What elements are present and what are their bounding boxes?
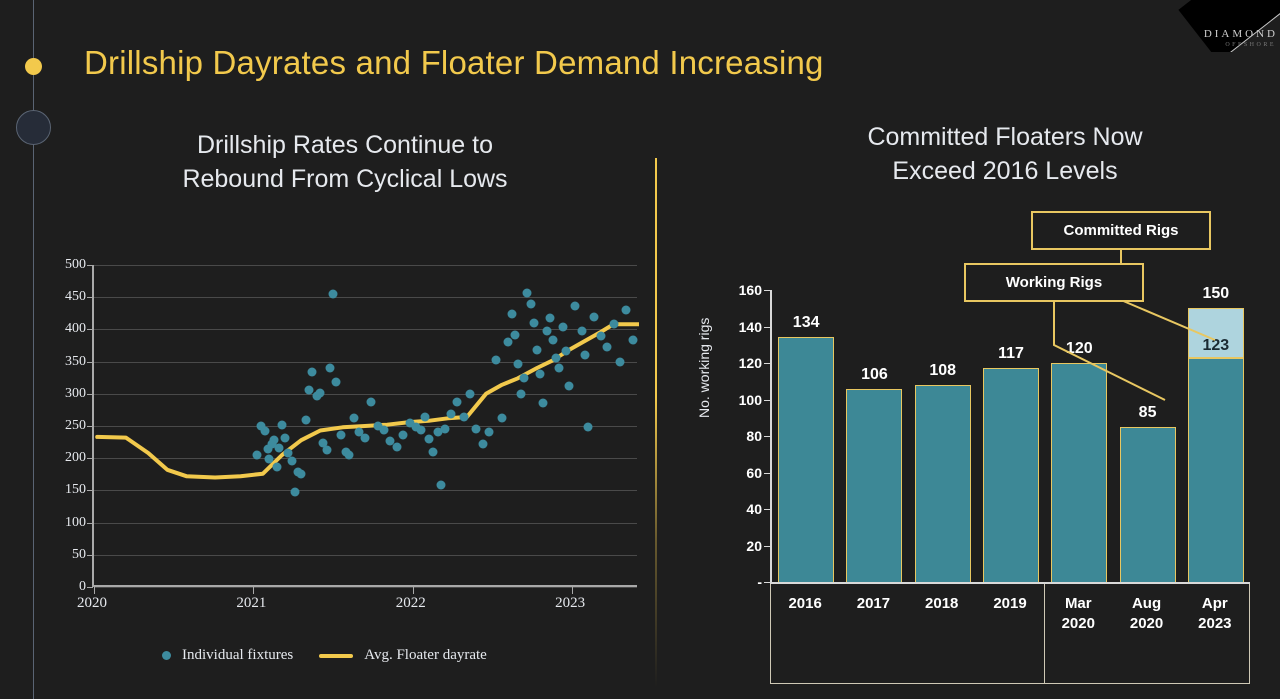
bar-value-label: 117 bbox=[998, 345, 1024, 363]
scatter-point bbox=[446, 410, 455, 419]
scatter-point bbox=[517, 389, 526, 398]
scatter-x-tick-label: 2021 bbox=[236, 595, 266, 612]
scatter-point bbox=[472, 424, 481, 433]
scatter-gridline bbox=[94, 587, 637, 588]
bar-segment-working bbox=[846, 389, 902, 582]
scatter-point bbox=[510, 330, 519, 339]
scatter-point bbox=[466, 389, 475, 398]
scatter-point bbox=[316, 388, 325, 397]
scatter-point bbox=[278, 420, 287, 429]
scatter-point bbox=[577, 326, 586, 335]
legend-dot-icon bbox=[162, 651, 171, 660]
scatter-y-tick bbox=[87, 426, 93, 427]
scatter-point bbox=[252, 450, 261, 459]
bar-y-tick bbox=[764, 400, 771, 401]
right-chart-title-line1: Committed Floaters Now bbox=[700, 120, 1280, 154]
bar-group-divider bbox=[1044, 584, 1045, 683]
scatter-point bbox=[297, 470, 306, 479]
bar-category-label: Apr 2023 bbox=[1198, 594, 1231, 633]
scatter-point bbox=[548, 335, 557, 344]
legend-label-individual-fixtures: Individual fixtures bbox=[182, 647, 293, 664]
scatter-point bbox=[491, 356, 500, 365]
scatter-point bbox=[349, 414, 358, 423]
bar-column[interactable] bbox=[983, 368, 1039, 582]
scatter-point bbox=[322, 446, 331, 455]
bar-value-label: 85 bbox=[1139, 404, 1157, 422]
scatter-y-tick-label: 100 bbox=[65, 515, 86, 531]
bar-column[interactable] bbox=[915, 385, 971, 582]
scatter-plot-area bbox=[92, 265, 637, 587]
scatter-x-tick bbox=[413, 587, 414, 594]
left-chart-title-line2: Rebound From Cyclical Lows bbox=[60, 162, 630, 196]
bar-value-label: 106 bbox=[861, 366, 888, 384]
scatter-y-tick bbox=[87, 555, 93, 556]
timeline-line bbox=[33, 0, 34, 699]
bar-y-axis-labels: -20406080100120140160 bbox=[716, 290, 762, 582]
scatter-y-tick bbox=[87, 490, 93, 491]
scatter-point bbox=[260, 426, 269, 435]
scatter-point bbox=[485, 428, 494, 437]
scatter-point bbox=[628, 335, 637, 344]
bar-column[interactable] bbox=[846, 389, 902, 582]
bar-segment-working bbox=[778, 337, 834, 582]
scatter-point bbox=[437, 481, 446, 490]
timeline-active-dot bbox=[25, 58, 42, 75]
brand-logo: DIAMOND OFFSHORE bbox=[1170, 0, 1280, 52]
right-chart-title-line2: Exceed 2016 Levels bbox=[700, 154, 1280, 188]
scatter-y-tick bbox=[87, 458, 93, 459]
scatter-point bbox=[523, 289, 532, 298]
scatter-point bbox=[580, 351, 589, 360]
bar-y-tick bbox=[764, 363, 771, 364]
scatter-point bbox=[325, 364, 334, 373]
scatter-point bbox=[590, 312, 599, 321]
left-chart-title-line1: Drillship Rates Continue to bbox=[60, 128, 630, 162]
scatter-x-tick-label: 2020 bbox=[77, 595, 107, 612]
timeline-circle-marker bbox=[16, 110, 51, 145]
scatter-y-tick bbox=[87, 329, 93, 330]
bar-category-label: Aug 2020 bbox=[1130, 594, 1163, 633]
bar-category-label: 2016 bbox=[788, 594, 821, 614]
scatter-point bbox=[552, 353, 561, 362]
scatter-point bbox=[273, 463, 282, 472]
scatter-point bbox=[332, 378, 341, 387]
scatter-y-tick-label: 200 bbox=[65, 450, 86, 466]
bar-y-tick-label: 120 bbox=[739, 355, 762, 371]
bar-y-tick-label: 20 bbox=[746, 538, 762, 554]
legend-item-avg-floater-dayrate: Avg. Floater dayrate bbox=[319, 647, 487, 664]
scatter-point bbox=[399, 431, 408, 440]
scatter-point bbox=[337, 431, 346, 440]
scatter-y-tick-label: 400 bbox=[65, 321, 86, 337]
bar-y-axis-title: No. working rigs bbox=[696, 318, 712, 418]
bar-inner-value-label: 123 bbox=[1202, 337, 1229, 355]
scatter-y-tick-label: 50 bbox=[72, 547, 86, 563]
scatter-y-tick bbox=[87, 297, 93, 298]
scatter-point bbox=[478, 440, 487, 449]
scatter-point bbox=[561, 347, 570, 356]
bar-segment-working bbox=[1051, 363, 1107, 582]
scatter-y-tick bbox=[87, 362, 93, 363]
bar-y-tick bbox=[764, 473, 771, 474]
scatter-point bbox=[545, 313, 554, 322]
scatter-point bbox=[609, 320, 618, 329]
scatter-point bbox=[367, 397, 376, 406]
scatter-point bbox=[281, 433, 290, 442]
scatter-point bbox=[274, 443, 283, 452]
scatter-y-tick bbox=[87, 394, 93, 395]
bar-x-axis-label-box: 2016201720182019Mar 2020Aug 2020Apr 2023 bbox=[770, 584, 1250, 684]
scatter-y-tick-label: 350 bbox=[65, 354, 86, 370]
bar-y-tick-label: 60 bbox=[746, 465, 762, 481]
callout-working-rigs: Working Rigs bbox=[964, 263, 1144, 302]
scatter-point bbox=[513, 360, 522, 369]
bar-category-label: 2018 bbox=[925, 594, 958, 614]
bar-chart: No. working rigs -20406080100120140160 1… bbox=[700, 290, 1270, 690]
bar-y-tick bbox=[764, 436, 771, 437]
scatter-y-tick-label: 500 bbox=[65, 257, 86, 273]
scatter-point bbox=[380, 425, 389, 434]
bar-y-tick-label: 80 bbox=[746, 428, 762, 444]
scatter-point bbox=[265, 455, 274, 464]
scatter-point bbox=[520, 374, 529, 383]
scatter-y-axis-labels: 050100150200250300350400450500 bbox=[42, 265, 86, 587]
legend-line-icon bbox=[319, 654, 353, 658]
bar-segment-working bbox=[983, 368, 1039, 582]
scatter-y-tick-label: 450 bbox=[65, 289, 86, 305]
legend-item-individual-fixtures: Individual fixtures bbox=[162, 647, 293, 664]
scatter-x-tick bbox=[94, 587, 95, 594]
scatter-point bbox=[507, 309, 516, 318]
scatter-point bbox=[290, 487, 299, 496]
scatter-point bbox=[596, 331, 605, 340]
scatter-point bbox=[287, 456, 296, 465]
bar-value-label: 120 bbox=[1066, 340, 1093, 358]
scatter-point bbox=[564, 382, 573, 391]
bar-segment-working bbox=[1120, 427, 1176, 582]
scatter-x-tick bbox=[572, 587, 573, 594]
scatter-y-tick-label: 300 bbox=[65, 386, 86, 402]
scatter-point bbox=[421, 412, 430, 421]
bar-category-label: Mar 2020 bbox=[1062, 594, 1095, 633]
scatter-point bbox=[622, 306, 631, 315]
scatter-y-tick bbox=[87, 523, 93, 524]
avg-floater-dayrate-line bbox=[94, 265, 639, 587]
scatter-point bbox=[308, 367, 317, 376]
bar-value-label: 134 bbox=[793, 314, 820, 332]
slide-root: DIAMOND OFFSHORE Drillship Dayrates and … bbox=[0, 0, 1280, 699]
scatter-point bbox=[603, 343, 612, 352]
scatter-point bbox=[536, 370, 545, 379]
bar-segment-working bbox=[1188, 358, 1244, 582]
bar-y-tick bbox=[764, 509, 771, 510]
scatter-point bbox=[526, 299, 535, 308]
scatter-point bbox=[329, 289, 338, 298]
bar-y-tick bbox=[764, 290, 771, 291]
scatter-point bbox=[533, 346, 542, 355]
panel-divider bbox=[655, 158, 657, 688]
bar-segment-working bbox=[915, 385, 971, 582]
scatter-point bbox=[440, 424, 449, 433]
scatter-point bbox=[555, 364, 564, 373]
scatter-point bbox=[453, 397, 462, 406]
scatter-point bbox=[424, 434, 433, 443]
logo-subtitle: OFFSHORE bbox=[1225, 42, 1276, 48]
right-chart-title: Committed Floaters Now Exceed 2016 Level… bbox=[700, 120, 1280, 188]
scatter-point bbox=[584, 423, 593, 432]
scatter-x-tick-label: 2022 bbox=[396, 595, 426, 612]
bar-value-label: 150 bbox=[1202, 285, 1229, 303]
scatter-point bbox=[360, 433, 369, 442]
bar-category-label: 2019 bbox=[993, 594, 1026, 614]
scatter-point bbox=[529, 318, 538, 327]
scatter-y-tick bbox=[87, 587, 93, 588]
scatter-point bbox=[429, 447, 438, 456]
bar-column[interactable] bbox=[1051, 363, 1107, 582]
scatter-x-tick bbox=[253, 587, 254, 594]
scatter-chart: 050100150200250300350400450500 202020212… bbox=[42, 265, 642, 675]
scatter-y-tick bbox=[87, 265, 93, 266]
bar-category-label: 2017 bbox=[857, 594, 890, 614]
scatter-y-tick-label: 150 bbox=[65, 482, 86, 498]
bar-y-tick-label: 40 bbox=[746, 501, 762, 517]
page-title: Drillship Dayrates and Floater Demand In… bbox=[84, 44, 824, 82]
scatter-point bbox=[558, 322, 567, 331]
scatter-point bbox=[497, 414, 506, 423]
logo-name: DIAMOND bbox=[1204, 28, 1278, 40]
bar-y-tick-label: - bbox=[757, 574, 762, 590]
scatter-legend: Individual fixtures Avg. Floater dayrate bbox=[162, 647, 487, 664]
bar-column[interactable] bbox=[778, 337, 834, 582]
bar-y-tick bbox=[764, 546, 771, 547]
callout-committed-rigs: Committed Rigs bbox=[1031, 211, 1211, 250]
scatter-point bbox=[571, 302, 580, 311]
bar-y-tick-label: 140 bbox=[739, 319, 762, 335]
scatter-point bbox=[615, 357, 624, 366]
bar-value-label: 108 bbox=[929, 362, 956, 380]
bar-y-tick bbox=[764, 582, 771, 583]
bar-column[interactable] bbox=[1120, 427, 1176, 582]
left-chart-title: Drillship Rates Continue to Rebound From… bbox=[60, 128, 630, 196]
scatter-x-tick-label: 2023 bbox=[555, 595, 585, 612]
bar-y-tick-label: 160 bbox=[739, 282, 762, 298]
scatter-point bbox=[504, 338, 513, 347]
bar-plot-area: 13410610811712085150123 bbox=[772, 290, 1250, 582]
scatter-point bbox=[542, 326, 551, 335]
scatter-point bbox=[301, 415, 310, 424]
scatter-point bbox=[392, 442, 401, 451]
scatter-point bbox=[539, 398, 548, 407]
bar-y-tick-label: 100 bbox=[739, 392, 762, 408]
scatter-y-tick-label: 0 bbox=[79, 579, 86, 595]
scatter-point bbox=[459, 412, 468, 421]
bar-y-tick bbox=[764, 327, 771, 328]
scatter-y-tick-label: 250 bbox=[65, 418, 86, 434]
scatter-point bbox=[344, 450, 353, 459]
scatter-point bbox=[416, 425, 425, 434]
legend-label-avg-floater-dayrate: Avg. Floater dayrate bbox=[364, 647, 487, 664]
